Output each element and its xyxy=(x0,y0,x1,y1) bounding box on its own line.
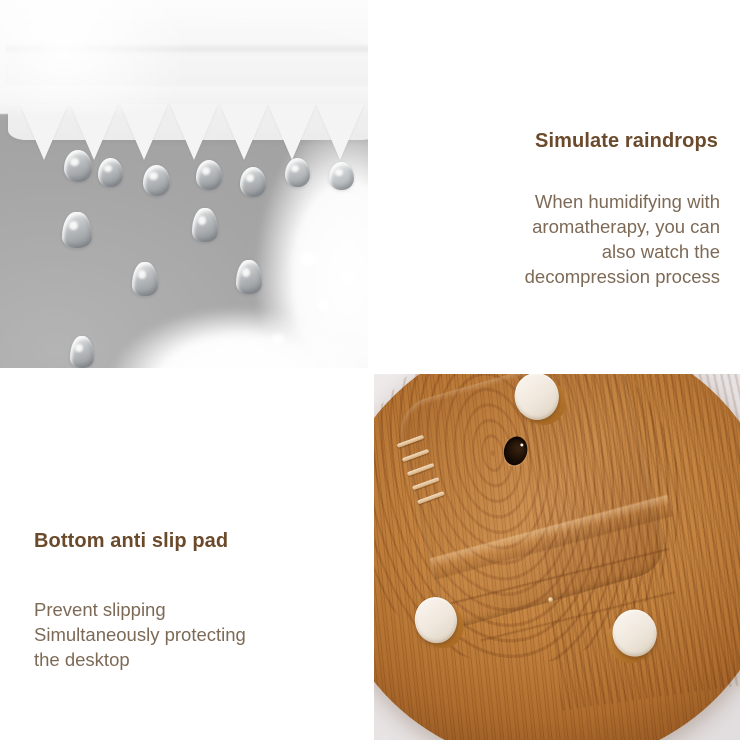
falling-water-droplet xyxy=(132,262,158,296)
anti-slip-feature-text: Bottom anti slip pad Prevent slippingSim… xyxy=(34,530,354,672)
anti-slip-heading: Bottom anti slip pad xyxy=(34,530,354,553)
lid-tooth xyxy=(220,104,268,160)
vent-slot xyxy=(402,449,430,462)
body-line: When humidifying with xyxy=(400,189,720,214)
simulate-raindrops-photo xyxy=(0,0,368,368)
mist-blob xyxy=(316,300,330,311)
vent-slot xyxy=(412,477,440,490)
body-line: also watch the xyxy=(400,239,720,264)
body-line: aromatherapy, you can xyxy=(400,214,720,239)
body-line: the desktop xyxy=(34,647,354,672)
lid-sawtooth-rim xyxy=(0,104,368,166)
raindrops-heading: Simulate raindrops xyxy=(400,130,720,153)
raindrops-body: When humidifying witharomatherapy, you c… xyxy=(400,189,720,289)
lid-tooth xyxy=(20,104,68,160)
body-line: Prevent slipping xyxy=(34,597,354,622)
body-line: decompression process xyxy=(400,264,720,289)
lid-tooth xyxy=(120,104,168,160)
wood-base-disc xyxy=(374,374,740,740)
mist-blob xyxy=(272,334,284,344)
product-feature-collage: Simulate raindrops When humidifying with… xyxy=(0,0,750,750)
anti-slip-body: Prevent slippingSimultaneously protectin… xyxy=(34,597,354,672)
hanging-water-droplet xyxy=(329,162,354,190)
lid-tooth xyxy=(316,104,364,160)
hanging-water-droplet xyxy=(143,165,170,196)
lid-tooth xyxy=(268,104,316,160)
bottom-anti-slip-pad-photo xyxy=(374,374,740,740)
falling-water-droplet xyxy=(236,260,262,294)
body-line: Simultaneously protecting xyxy=(34,622,354,647)
falling-water-droplet xyxy=(70,336,94,368)
vent-slot xyxy=(417,491,445,504)
lid-tooth xyxy=(170,104,218,160)
raindrops-feature-text: Simulate raindrops When humidifying with… xyxy=(400,130,720,289)
falling-water-droplet xyxy=(62,212,92,248)
hanging-water-droplet xyxy=(285,158,310,187)
vent-slot xyxy=(407,463,435,476)
hanging-water-droplet xyxy=(240,167,266,197)
lid-specular-sheen xyxy=(0,0,220,110)
mist-blob xyxy=(300,252,318,266)
falling-water-droplet xyxy=(192,208,218,242)
hanging-water-droplet xyxy=(196,160,222,190)
hanging-water-droplet xyxy=(64,150,92,182)
hanging-water-droplet xyxy=(98,158,123,187)
